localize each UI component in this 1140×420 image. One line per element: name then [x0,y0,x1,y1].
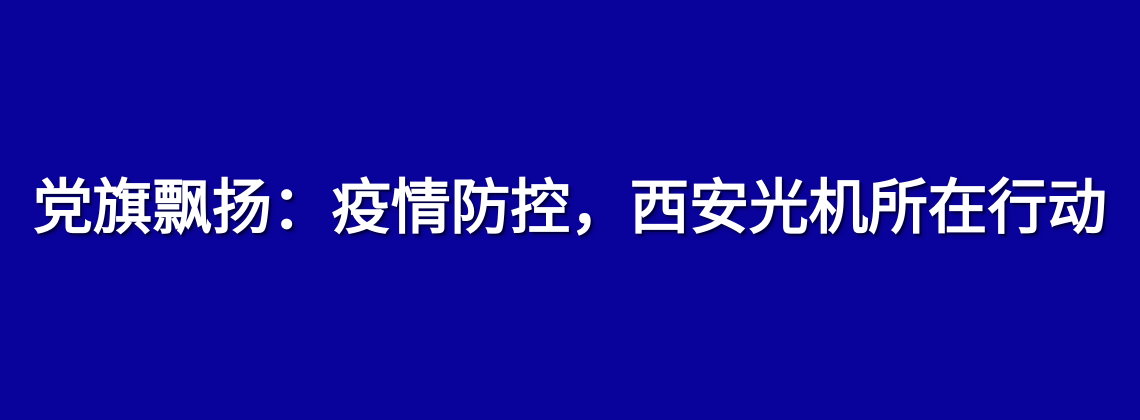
banner-canvas: 党旗飘扬：疫情防控，西安光机所在行动 [0,0,1140,420]
banner-headline: 党旗飘扬：疫情防控，西安光机所在行动 [0,178,1140,241]
